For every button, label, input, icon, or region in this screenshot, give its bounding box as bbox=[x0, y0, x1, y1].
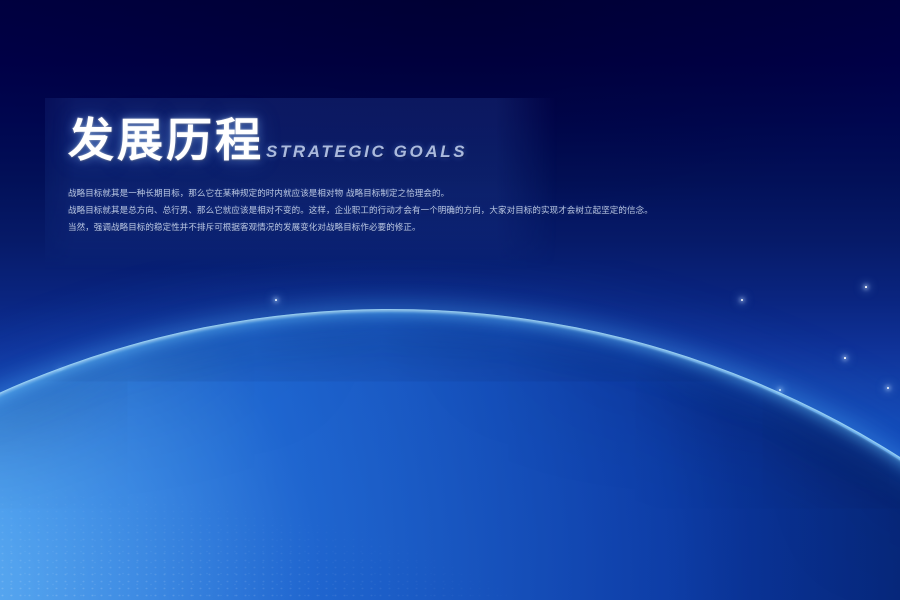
earth-sphere bbox=[0, 312, 900, 600]
earth-cloud-layer bbox=[0, 312, 900, 600]
body-line: 战略目标就其是总方向、总行男、那么它就应该是相对不变的。这样，企业职工的行动才会… bbox=[68, 203, 538, 220]
body-paragraph: 战略目标就其是一种长期目标，那么它在某种规定的时内就应该是相对物 战略目标制定之… bbox=[68, 186, 538, 237]
page-subtitle: STRATEGIC GOALS bbox=[266, 142, 467, 162]
earth-container bbox=[0, 260, 900, 600]
earth-terminator-shadow bbox=[0, 312, 900, 600]
earth-terrain-texture bbox=[0, 312, 900, 600]
banner-stage: 发展历程 STRATEGIC GOALS 战略目标就其是一种长期目标，那么它在某… bbox=[0, 0, 900, 600]
earth-atmosphere-rim bbox=[0, 309, 900, 600]
body-line: 当然，强调战略目标的稳定性并不排斥可根据客观情况的发展变化对战略目标作必要的修正… bbox=[68, 220, 538, 237]
headline-group: 发展历程 STRATEGIC GOALS bbox=[68, 118, 467, 164]
body-line: 战略目标就其是一种长期目标，那么它在某种规定的时内就应该是相对物 战略目标制定之… bbox=[68, 186, 538, 203]
page-title: 发展历程 bbox=[68, 118, 264, 164]
